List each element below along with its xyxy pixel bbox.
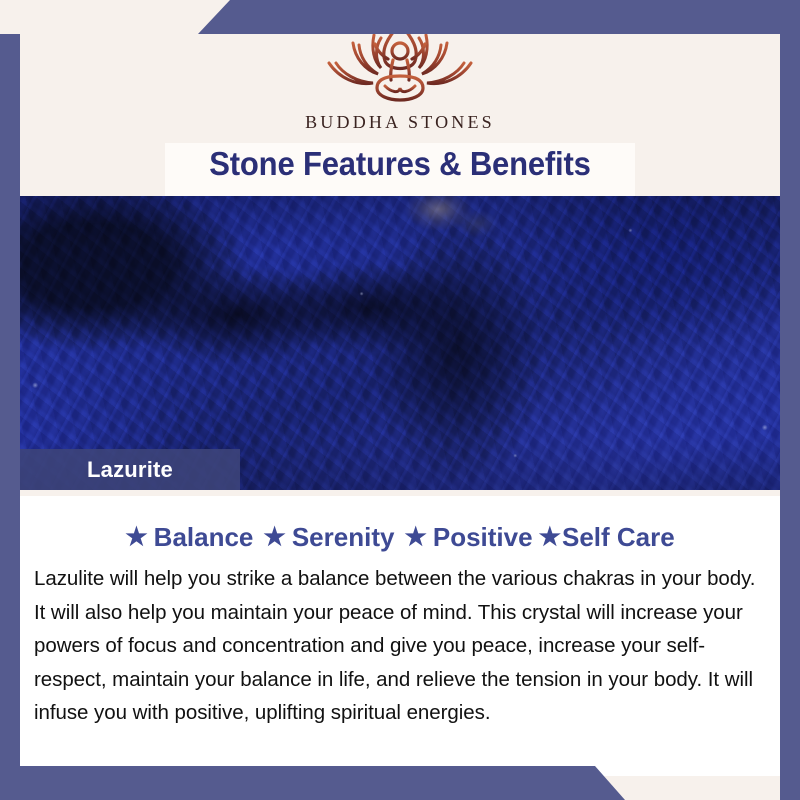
keyword-label: Self Care <box>562 522 675 553</box>
keyword-positive: ★ Positive <box>394 522 532 553</box>
keyword-list: ★ Balance ★ Serenity ★ Positive ★ Self C… <box>20 522 780 553</box>
keyword-label: Positive <box>433 522 533 553</box>
keyword-label: Balance <box>154 522 254 553</box>
star-icon: ★ <box>125 525 147 550</box>
lazurite-stone-photo <box>0 196 800 490</box>
star-icon: ★ <box>263 525 285 550</box>
poster-canvas: BUDDHA STONES Stone Features & Benefits … <box>0 0 800 800</box>
keyword-balance: ★ Balance <box>125 522 253 553</box>
keyword-serenity: ★ Serenity <box>253 522 394 553</box>
content-panel: ★ Balance ★ Serenity ★ Positive ★ Self C… <box>20 490 780 776</box>
page-title: Stone Features & Benefits <box>24 145 776 183</box>
panel-top-divider <box>20 490 780 496</box>
star-icon: ★ <box>539 525 561 550</box>
keyword-label: Serenity <box>292 522 395 553</box>
stone-name-label: Lazurite <box>20 457 240 483</box>
star-icon: ★ <box>404 525 426 550</box>
frame-right-band <box>780 0 800 800</box>
frame-left-band <box>0 34 20 800</box>
stone-photo-vignette <box>0 196 800 490</box>
stone-description: Lazulite will help you strike a balance … <box>34 562 762 730</box>
brand-name: BUDDHA STONES <box>305 112 495 133</box>
stone-name-badge: Lazurite <box>20 449 240 490</box>
keyword-self-care: ★ Self Care <box>533 522 675 553</box>
